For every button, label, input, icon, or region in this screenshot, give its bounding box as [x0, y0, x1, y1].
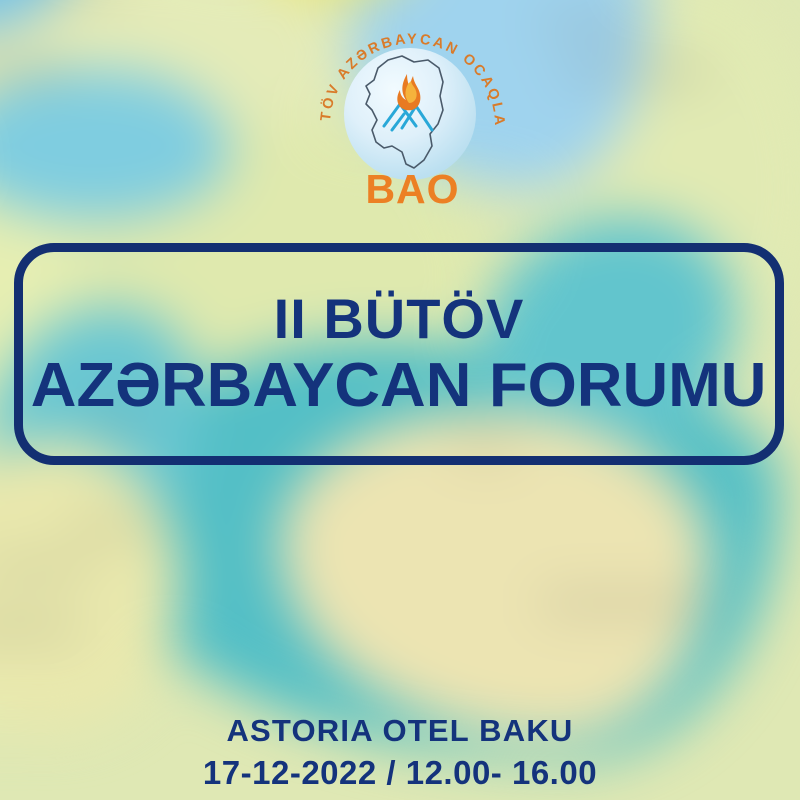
map-label-smudge [70, 520, 150, 535]
map-label-smudge [560, 65, 710, 81]
title-line-2: AZƏRBAYCAN FORUMU [31, 351, 767, 420]
venue-label: ASTORIA OTEL BAKU [0, 712, 800, 749]
logo-acronym: BAO [310, 166, 515, 213]
map-label-smudge [540, 15, 650, 30]
map-label-smudge [0, 60, 70, 76]
map-label-smudge [0, 560, 90, 574]
map-label-smudge [540, 595, 710, 611]
event-details: ASTORIA OTEL BAKU 17-12-2022 / 12.00- 16… [0, 712, 800, 793]
title-line-1: II BÜTÖV [274, 288, 525, 351]
flame-icon [397, 74, 420, 110]
event-poster: BÜTÖV AZƏRBAYCAN OCAQLARI BAO II BÜTÖV A… [0, 0, 800, 800]
map-label-smudge [0, 620, 80, 636]
organization-logo: BÜTÖV AZƏRBAYCAN OCAQLARI BAO [310, 18, 515, 213]
datetime-label: 17-12-2022 / 12.00- 16.00 [0, 753, 800, 793]
title-block: II BÜTÖV AZƏRBAYCAN FORUMU [14, 243, 784, 465]
logo-emblem [344, 48, 476, 180]
